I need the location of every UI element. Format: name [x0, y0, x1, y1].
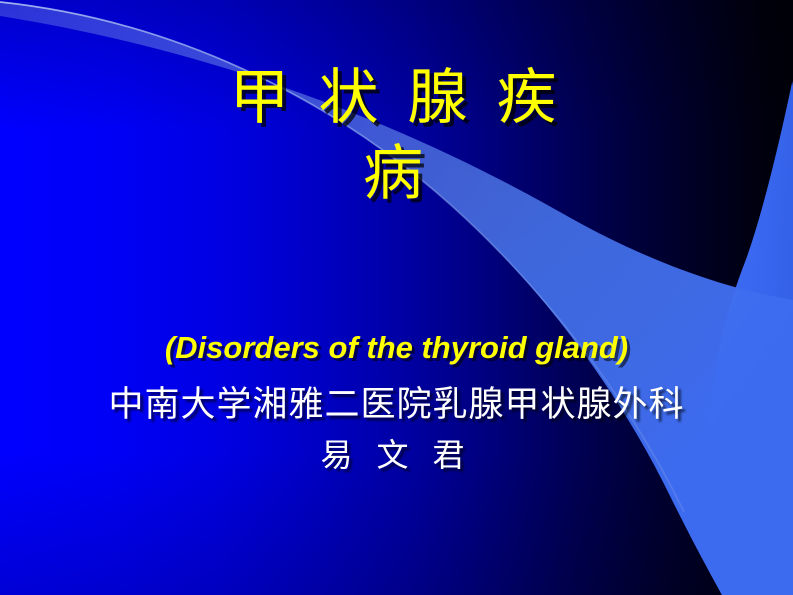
affiliation-line: 中南大学湘雅二医院乳腺甲状腺外科: [0, 384, 793, 426]
slide-canvas: 甲 状 腺 疾 病 (Disorders of the thyroid glan…: [0, 0, 793, 595]
title-line-2: 病: [0, 136, 793, 212]
slide-text-layer: 甲 状 腺 疾 病 (Disorders of the thyroid glan…: [0, 0, 793, 595]
slide-title: 甲 状 腺 疾 病: [0, 60, 793, 212]
presenter-name: 易 文 君: [0, 435, 793, 475]
subtitle-english: (Disorders of the thyroid gland): [0, 329, 793, 367]
title-line-1: 甲 状 腺 疾: [0, 60, 793, 136]
